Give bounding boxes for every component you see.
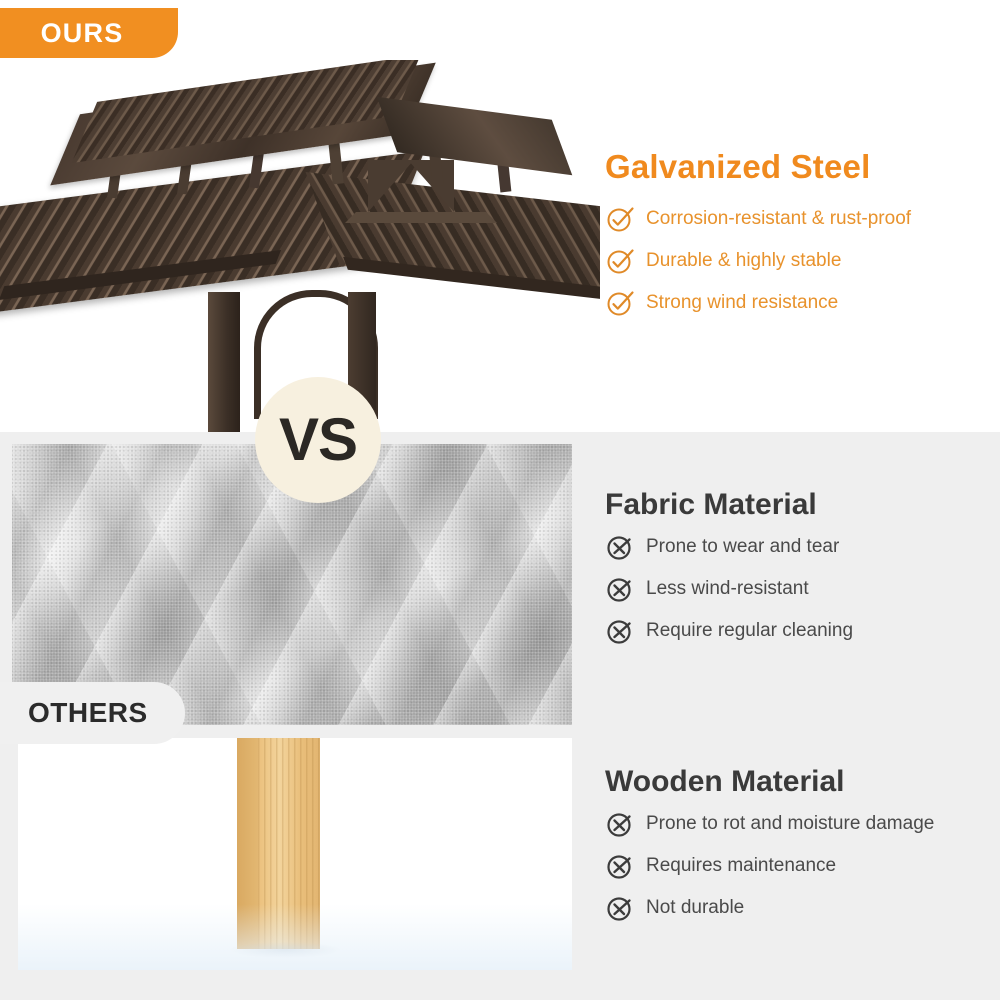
x-circle-icon xyxy=(605,532,635,562)
bullet-item: Durable & highly stable xyxy=(605,246,995,276)
bullet-item: Not durable xyxy=(605,893,997,923)
bullet-label: Corrosion-resistant & rust-proof xyxy=(646,207,911,231)
bullet-label: Less wind-resistant xyxy=(646,577,809,601)
x-circle-icon xyxy=(605,809,635,839)
x-circle-icon xyxy=(605,893,635,923)
section-ours: OURS Galvanized Steel Corrosion-resistan… xyxy=(0,0,1000,432)
bullet-label: Durable & highly stable xyxy=(646,249,841,273)
x-circle-icon xyxy=(605,574,635,604)
heading-wooden-material: Wooden Material xyxy=(605,765,997,799)
bullet-item: Strong wind resistance xyxy=(605,288,995,318)
wooden-post-image xyxy=(18,738,572,970)
vs-badge: VS xyxy=(255,377,381,503)
bullet-item: Less wind-resistant xyxy=(605,574,995,604)
bullet-label: Prone to wear and tear xyxy=(646,535,839,559)
check-circle-icon xyxy=(605,246,635,276)
bullet-item: Requires maintenance xyxy=(605,851,997,881)
bullet-item: Require regular cleaning xyxy=(605,616,995,646)
bullet-label: Strong wind resistance xyxy=(646,291,838,315)
check-circle-icon xyxy=(605,288,635,318)
copy-galvanized-steel: Galvanized Steel Corrosion-resistant & r… xyxy=(605,148,995,330)
bullet-label: Require regular cleaning xyxy=(646,619,853,643)
bullet-label: Prone to rot and moisture damage xyxy=(646,812,934,836)
copy-fabric-material: Fabric Material Prone to wear and tear xyxy=(605,488,995,658)
x-circle-icon xyxy=(605,851,635,881)
section-wooden: Wooden Material Prone to rot and moistur… xyxy=(0,725,1000,1000)
bullet-item: Prone to wear and tear xyxy=(605,532,995,562)
bullet-label: Requires maintenance xyxy=(646,854,836,878)
badge-ours-label: OURS xyxy=(41,18,124,49)
comparison-infographic: OURS Galvanized Steel Corrosion-resistan… xyxy=(0,0,1000,1000)
gazebo-metal-roof-image xyxy=(0,60,600,432)
x-circle-icon xyxy=(605,616,635,646)
vs-label: VS xyxy=(279,410,357,470)
badge-ours: OURS xyxy=(0,8,178,58)
bullet-item: Corrosion-resistant & rust-proof xyxy=(605,204,995,234)
badge-others-label: OTHERS xyxy=(0,697,148,729)
heading-galvanized-steel: Galvanized Steel xyxy=(605,148,995,186)
heading-fabric-material: Fabric Material xyxy=(605,488,995,522)
check-circle-icon xyxy=(605,204,635,234)
bullet-label: Not durable xyxy=(646,896,744,920)
bullet-item: Prone to rot and moisture damage xyxy=(605,809,997,839)
badge-others: OTHERS xyxy=(0,682,185,744)
copy-wooden-material: Wooden Material Prone to rot and moistur… xyxy=(605,765,997,935)
